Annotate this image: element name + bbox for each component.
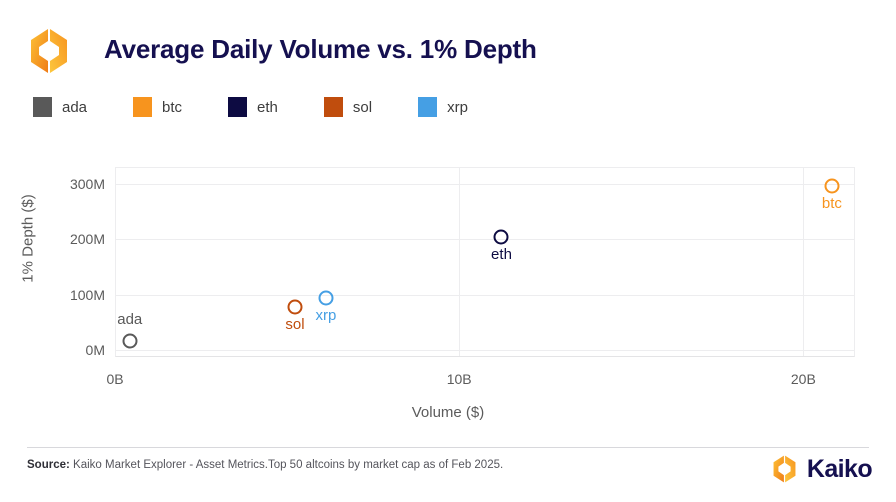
y-axis-tick-label: 200M — [70, 231, 105, 247]
gridline-vertical — [459, 168, 460, 356]
x-axis-tick-label: 0B — [106, 371, 123, 387]
source-prefix: Source: — [27, 459, 70, 471]
gridline-horizontal — [116, 184, 854, 185]
data-point-label-sol: sol — [285, 316, 304, 333]
data-point-sol[interactable] — [287, 299, 302, 314]
gridline-horizontal — [116, 295, 854, 296]
source-text: Kaiko Market Explorer - Asset Metrics.To… — [73, 459, 503, 471]
plot-area: adasolxrpethbtc — [115, 167, 855, 357]
data-point-label-xrp: xrp — [316, 307, 337, 324]
x-axis-title: Volume ($) — [0, 404, 896, 421]
footer-divider — [27, 447, 869, 448]
x-axis-tick-label: 10B — [447, 371, 472, 387]
y-axis-tick-label: 100M — [70, 287, 105, 303]
scatter-plot: 1% Depth ($) 0M100M200M300M adasolxrpeth… — [0, 0, 896, 440]
data-point-label-eth: eth — [491, 246, 512, 263]
kaiko-hex-logo-icon — [771, 455, 798, 483]
gridline-horizontal — [116, 350, 854, 351]
gridline-vertical — [803, 168, 804, 356]
y-axis-tick-label: 0M — [86, 342, 105, 358]
data-point-eth[interactable] — [494, 230, 509, 245]
gridline-horizontal — [116, 239, 854, 240]
data-point-ada[interactable] — [122, 334, 137, 349]
x-axis-tick-label: 20B — [791, 371, 816, 387]
footer-brand: Kaiko — [771, 455, 872, 483]
source-note: Source: Kaiko Market Explorer - Asset Me… — [27, 459, 503, 471]
brand-wordmark: Kaiko — [807, 457, 872, 482]
data-point-xrp[interactable] — [318, 291, 333, 306]
y-axis-ticks: 0M100M200M300M — [0, 0, 105, 440]
data-point-label-btc: btc — [822, 195, 842, 212]
data-point-btc[interactable] — [824, 179, 839, 194]
data-point-label-ada: ada — [117, 311, 142, 328]
y-axis-tick-label: 300M — [70, 176, 105, 192]
